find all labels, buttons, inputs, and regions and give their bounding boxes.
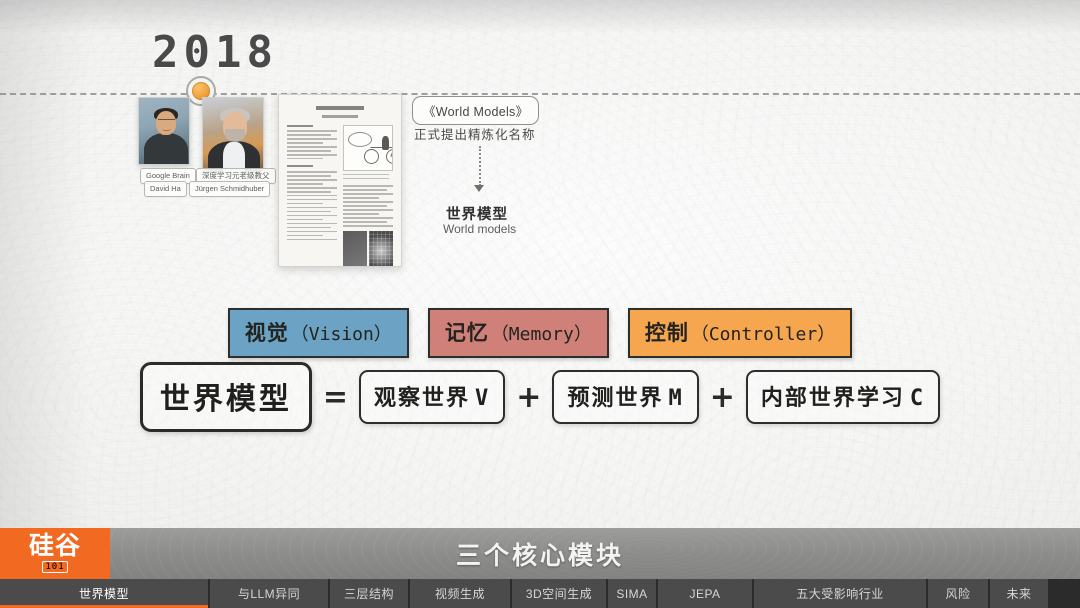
section-title: 三个核心模块 [110,536,970,572]
world-model-equation: 世界模型 = 观察世界V + 预测世界M + 内部世界学习C [0,362,1080,432]
portrait-david-ha [138,97,190,165]
nav-item-2[interactable]: 三层结构 [330,579,408,608]
nav-item-label: 未来 [1006,585,1031,602]
nav-item-3[interactable]: 视频生成 [410,579,510,608]
logo-stack: 硅谷 101 [29,534,81,573]
callout-subtitle: 正式提出精炼化名称 [414,124,536,143]
portrait-body [144,133,188,165]
equation-term-vision-label: 观察世界 [374,385,470,410]
equation-plus-sign-1: + [516,380,541,415]
footer-bar: 硅谷 101 三个核心模块 [0,528,1080,579]
timeline-year: 2018 [152,27,278,78]
nav-item-label: 3D空间生成 [526,585,592,602]
portrait-beard [225,129,245,142]
arrow-head-icon [474,185,484,192]
nav-item-label: 世界模型 [79,585,129,602]
dotted-arrow-line [479,146,481,186]
nav-item-6[interactable]: JEPA [658,579,752,608]
module-memory-cn: 记忆 [445,317,489,347]
thought-bubble-icon [348,132,372,147]
logo-badge-101: 101 [42,561,67,573]
callout-result-en: World models [0,222,1080,236]
nav-item-9[interactable]: 未来 [990,579,1048,608]
caption-name-david-ha: David Ha [144,181,187,197]
paper-columns [287,125,393,268]
left-shadow-gradient [0,0,90,528]
equation-equals-sign: = [323,380,348,415]
nav-item-1[interactable]: 与LLM异同 [210,579,328,608]
paper-column-right [343,125,393,268]
nav-item-5[interactable]: SIMA [608,579,656,608]
equation-subject: 世界模型 [140,362,312,432]
equation-term-memory: 预测世界M [552,370,698,424]
paper-figure-bicycle [343,125,393,171]
paper-title-pill: 《World Models》 [412,96,539,125]
module-controller: 控制 （Controller） [628,308,852,358]
equation-plus-sign-2: + [710,380,735,415]
caption-name-juergen: Jürgen Schmidhuber [189,181,270,197]
core-modules-row: 视觉 （Vision） 记忆 （Memory） 控制 （Controller） [0,308,1080,358]
module-memory-en: （Memory） [491,320,592,346]
portrait-glasses [158,119,175,123]
timeline-dashed-line [0,93,1080,95]
nav-item-7[interactable]: 五大受影响行业 [754,579,926,608]
nav-item-label: 风险 [945,585,970,602]
nav-item-label: 与LLM异同 [238,585,300,602]
equation-term-controller-label: 内部世界学习 [761,385,905,410]
topographic-background [0,0,1080,528]
portrait-head [156,111,176,135]
nav-item-label: 三层结构 [344,585,394,602]
nav-item-label: 视频生成 [435,585,485,602]
nav-item-8[interactable]: 风险 [928,579,988,608]
module-vision-en: （Vision） [291,320,392,346]
paper-title-bar [316,106,365,110]
equation-term-controller: 内部世界学习C [746,370,940,424]
portrait-smile [162,127,171,131]
nav-item-4[interactable]: 3D空间生成 [512,579,606,608]
equation-term-controller-symbol: C [910,386,925,411]
module-vision-cn: 视觉 [245,317,289,347]
nav-item-label: 五大受影响行业 [796,585,884,602]
logo-text: 硅谷 [29,534,81,559]
slide-stage [0,0,1080,528]
equation-term-memory-symbol: M [668,386,683,411]
slide-root: 2018 Google Brain David Ha 深度学习元老级教父 Jür… [0,0,1080,608]
paper-figure-heatmap [343,231,393,267]
portrait-juergen-schmidhuber [202,97,264,173]
paper-texture [0,0,1080,528]
module-controller-cn: 控制 [645,317,689,347]
module-vision: 视觉 （Vision） [228,308,409,358]
nav-item-label: SIMA [616,587,647,601]
callout-result-cn: 世界模型 [0,203,1080,224]
paper-authors-bar [322,115,358,118]
chapter-nav-bar[interactable]: 世界模型与LLM异同三层结构视频生成3D空间生成SIMAJEPA五大受影响行业风… [0,579,1080,608]
channel-logo: 硅谷 101 [0,528,110,579]
equation-term-vision: 观察世界V [359,370,505,424]
equation-term-memory-label: 预测世界 [567,385,663,410]
paper-column-left [287,125,337,268]
paper-thumbnail [278,94,402,267]
equation-term-vision-symbol: V [475,386,490,411]
module-memory: 记忆 （Memory） [428,308,609,358]
nav-item-label: JEPA [689,587,720,601]
module-controller-en: （Controller） [691,320,835,346]
nav-item-0[interactable]: 世界模型 [0,579,208,608]
